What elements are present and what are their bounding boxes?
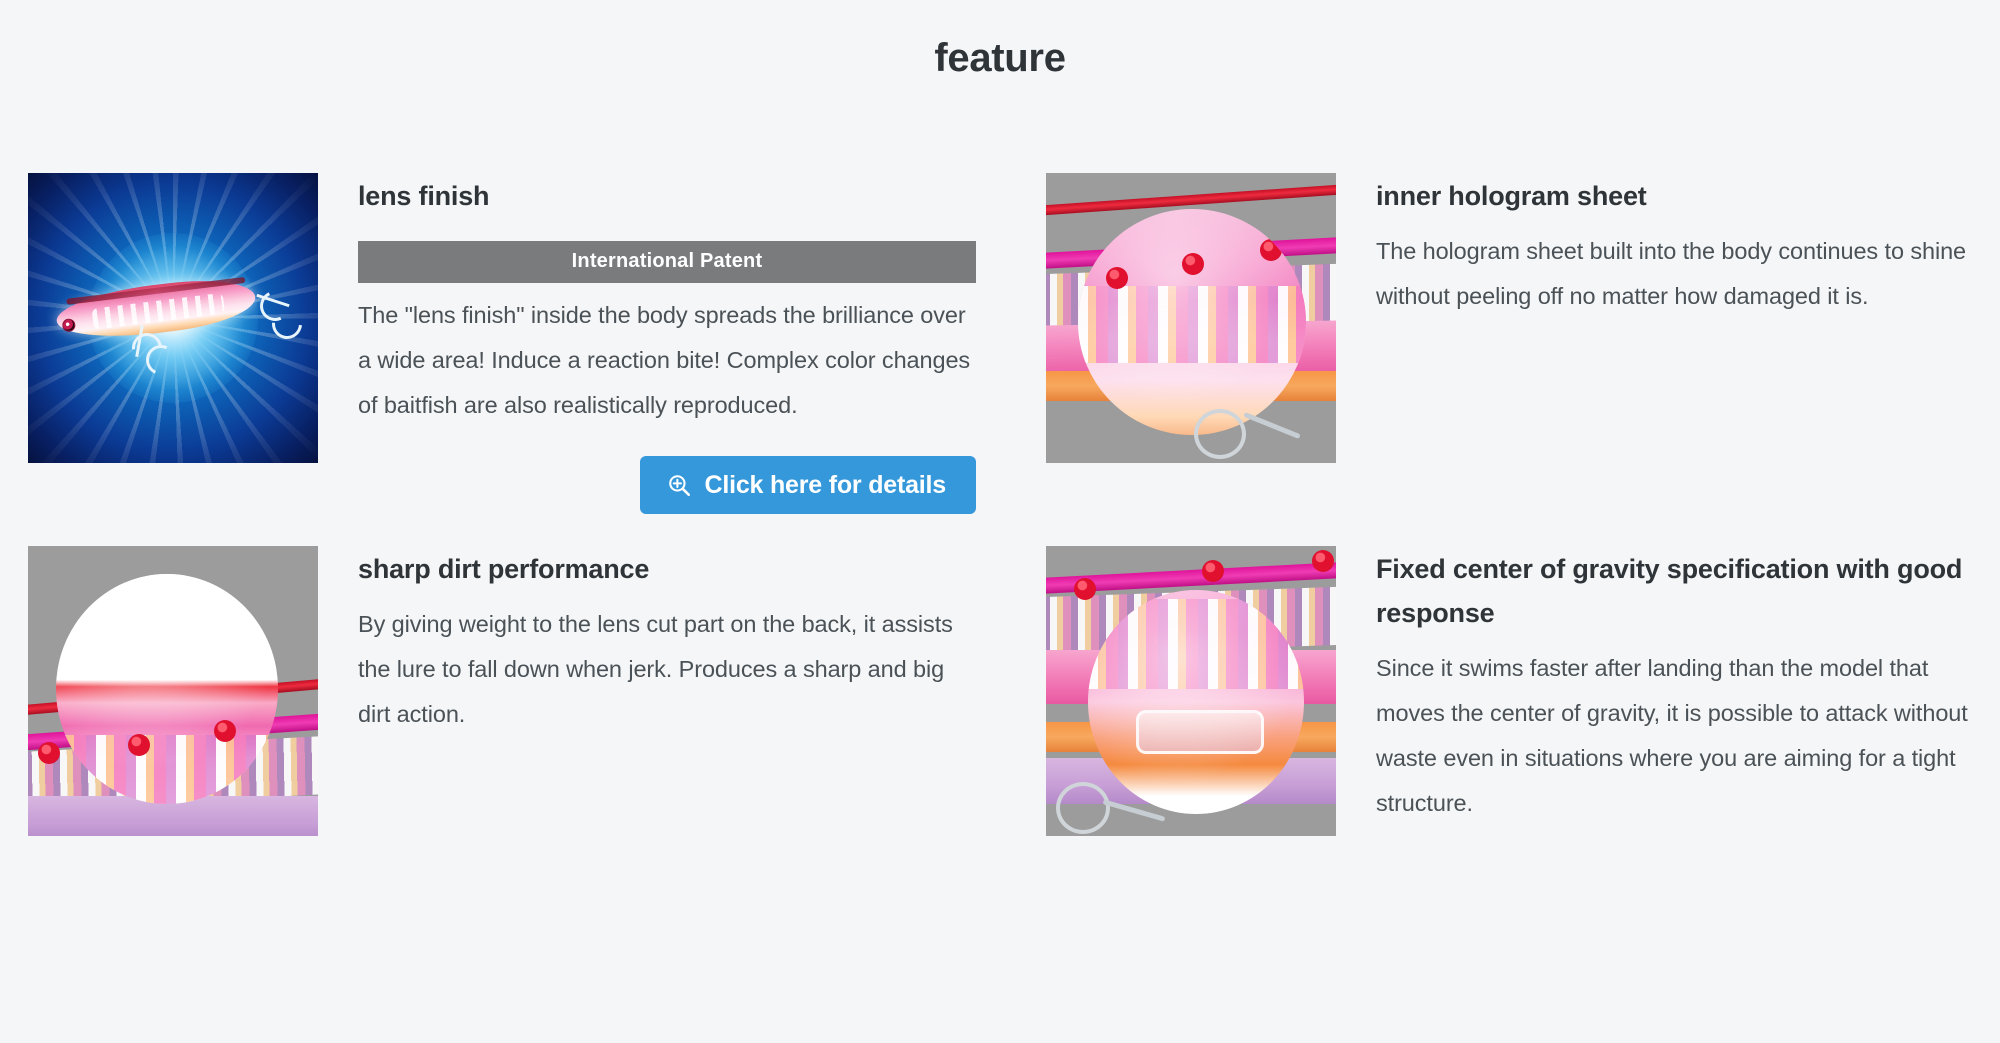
cta-button-label: Click here for details: [704, 473, 946, 498]
dot-red: [1260, 239, 1282, 261]
lure-glow-image: [28, 173, 318, 463]
dot-red: [1312, 550, 1334, 572]
feature-card-text: Fixed center of gravity specification wi…: [1336, 546, 1972, 826]
feature-card-inner-hologram-sheet: inner hologram sheet The hologram sheet …: [1046, 173, 1972, 514]
patent-badge: International Patent: [358, 241, 976, 283]
feature-card-text: lens finish International Patent The "le…: [318, 173, 1046, 514]
feature-description: The "lens finish" inside the body spread…: [358, 293, 976, 428]
split-ring-icon: [1194, 409, 1246, 459]
gravity-macro-image: [1046, 546, 1336, 836]
feature-card-lens-finish: lens finish International Patent The "le…: [28, 173, 1046, 514]
feature-title: Fixed center of gravity specification wi…: [1376, 548, 1972, 635]
magnifier-shine: [56, 574, 278, 804]
dot-red: [214, 720, 236, 742]
feature-title: inner hologram sheet: [1376, 175, 1972, 219]
split-ring-icon: [1056, 782, 1110, 834]
magnifier-circle: [1088, 590, 1304, 814]
feature-card-sharp-dirt-performance: sharp dirt performance By giving weight …: [28, 546, 1046, 836]
dot-red: [128, 734, 150, 756]
zoom-in-icon: [666, 472, 692, 498]
click-here-for-details-button[interactable]: Click here for details: [640, 456, 976, 514]
hologram-macro-image: [1046, 173, 1336, 463]
feature-card-fixed-center-of-gravity: Fixed center of gravity specification wi…: [1046, 546, 1972, 836]
dirt-macro-image: [28, 546, 318, 836]
cta-container: Click here for details: [358, 456, 976, 514]
magnifier-shine: [1088, 590, 1304, 814]
dot-red: [1182, 253, 1204, 275]
page-title: feature: [0, 0, 2000, 81]
feature-description: The hologram sheet built into the body c…: [1376, 229, 1972, 319]
feature-title: lens finish: [358, 175, 1046, 219]
feature-title: sharp dirt performance: [358, 548, 1046, 592]
dot-red: [1202, 560, 1224, 582]
feature-description: Since it swims faster after landing than…: [1376, 646, 1972, 826]
magnifier-circle: [56, 574, 278, 804]
dot-red: [1106, 267, 1128, 289]
magnifier-circle: [1078, 209, 1306, 435]
feature-grid: lens finish International Patent The "le…: [28, 173, 1972, 836]
lure-eye: [62, 318, 76, 332]
feature-description: By giving weight to the lens cut part on…: [358, 602, 976, 737]
patent-badge-label: International Patent: [572, 250, 763, 273]
feature-page: feature lens finish: [0, 0, 2000, 1043]
feature-card-text: inner hologram sheet The hologram sheet …: [1336, 173, 1972, 319]
feature-card-text: sharp dirt performance By giving weight …: [318, 546, 1046, 737]
